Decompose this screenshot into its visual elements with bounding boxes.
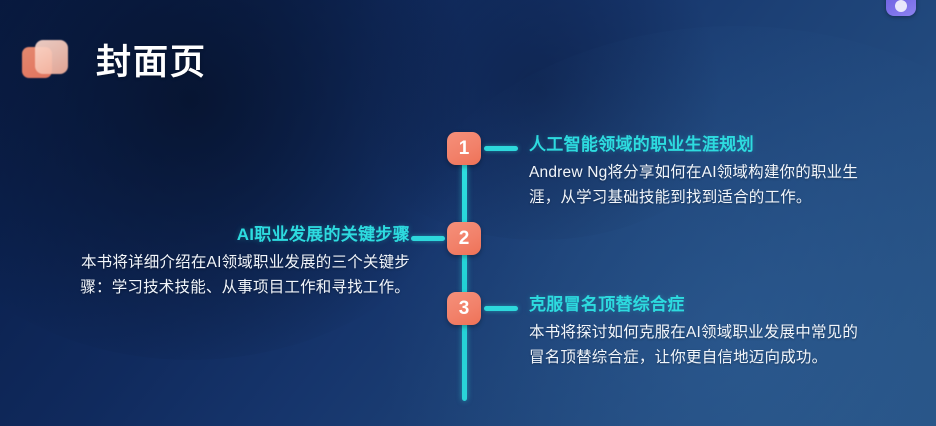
page-title: 封面页	[96, 45, 207, 80]
timeline-entry-3: 克服冒名顶替综合症 本书将探讨如何克服在AI领域职业发展中常见的冒名顶替综合症，…	[529, 294, 859, 370]
timeline-entry-2-body: 本书将详细介绍在AI领域职业发展的三个关键步骤：学习技术技能、从事项目工作和寻找…	[62, 250, 410, 300]
chip-dot-icon	[895, 0, 907, 12]
purple-app-chip-icon[interactable]	[886, 0, 916, 16]
timeline-entry-1: 人工智能领域的职业生涯规划 Andrew Ng将分享如何在AI领域构建你的职业生…	[529, 134, 859, 210]
timeline-entry-3-title: 克服冒名顶替综合症	[529, 294, 859, 315]
slide-header: 封面页	[22, 38, 207, 86]
timeline-connector-1	[484, 146, 518, 151]
timeline-entry-3-body: 本书将探讨如何克服在AI领域职业发展中常见的冒名顶替综合症，让你更自信地迈向成功…	[529, 320, 859, 370]
timeline-axis	[462, 150, 467, 401]
timeline-badge-2[interactable]: 2	[447, 222, 481, 255]
slide-canvas: 封面页 1 2 3 人工智能领域的职业生涯规划 Andrew Ng将分享如何在A…	[0, 0, 936, 426]
square-front-shape	[35, 40, 68, 74]
timeline-entry-1-title: 人工智能领域的职业生涯规划	[529, 134, 859, 155]
timeline-connector-2	[411, 236, 445, 241]
timeline-entry-2-title: AI职业发展的关键步骤	[62, 224, 410, 245]
timeline-badge-3[interactable]: 3	[447, 292, 481, 325]
overlapping-squares-icon	[22, 38, 72, 86]
timeline-entry-1-body: Andrew Ng将分享如何在AI领域构建你的职业生涯，从学习基础技能到找到适合…	[529, 160, 859, 210]
timeline-badge-1[interactable]: 1	[447, 132, 481, 165]
timeline-entry-2: AI职业发展的关键步骤 本书将详细介绍在AI领域职业发展的三个关键步骤：学习技术…	[62, 224, 410, 300]
timeline-connector-3	[484, 306, 518, 311]
